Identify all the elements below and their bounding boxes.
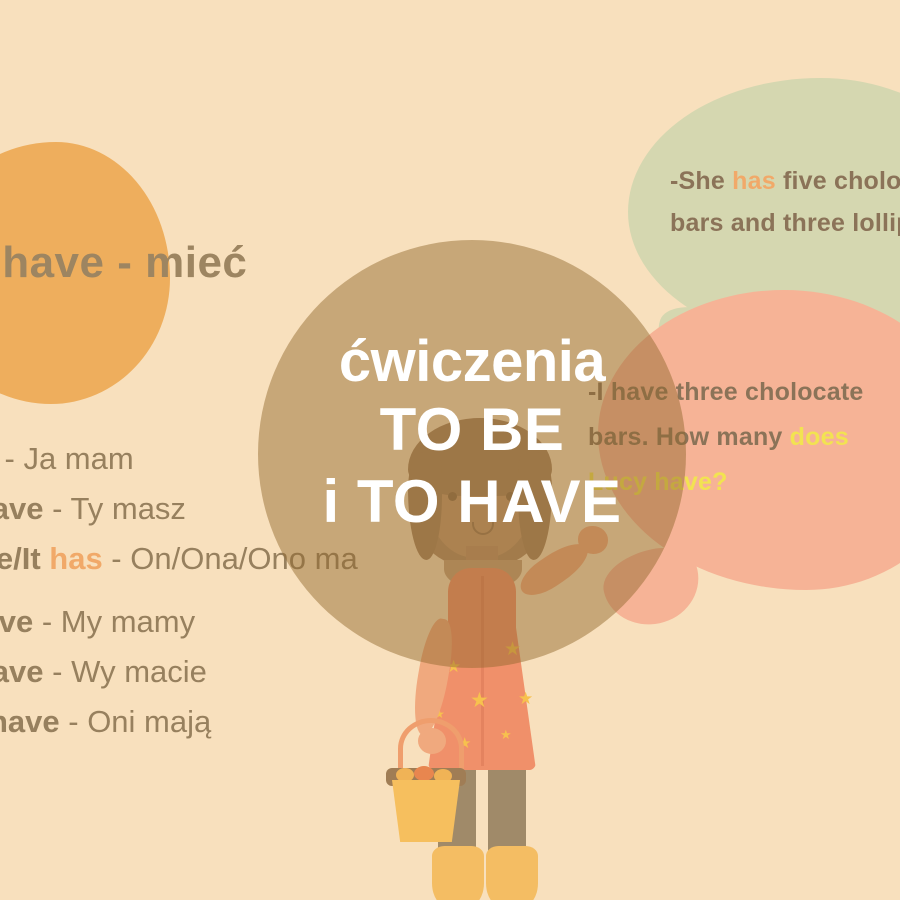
green-bubble-line-2: bars and three lollipops. — [670, 202, 900, 244]
basket-item — [396, 768, 414, 782]
conjugation-highlight-has: has — [49, 541, 102, 576]
star-icon: ★ — [500, 728, 512, 741]
conjugation-row-5: You have - Wy macie — [0, 647, 358, 697]
basket-item — [414, 766, 434, 781]
green-bubble-line-1: -She has five cholocate — [670, 160, 900, 202]
page-title-to-have: To have - mieć — [0, 238, 247, 288]
title-line-to-have: i TO HAVE — [258, 466, 686, 538]
conjugation-row-6: They have - Oni mają — [0, 697, 358, 747]
star-icon: ★ — [518, 690, 533, 707]
title-line-cwiczenia: ćwiczenia — [258, 330, 686, 394]
slide-canvas: -She has five cholocate bars and three l… — [0, 0, 900, 900]
title-line-to-be: TO BE — [258, 394, 686, 466]
girl-boot-sole — [456, 892, 510, 900]
title-overlay-text: ćwiczenia TO BE i TO HAVE — [258, 330, 686, 538]
green-bubble-highlight-has: has — [732, 167, 776, 195]
star-icon: ★ — [470, 690, 489, 711]
speech-bubble-green-text: -She has five cholocate bars and three l… — [670, 160, 900, 244]
conjugation-row-4: We have - My mamy — [0, 597, 358, 647]
salmon-bubble-highlight-does: does — [790, 423, 849, 451]
basket-body — [392, 780, 460, 842]
basket-illustration — [382, 718, 470, 828]
